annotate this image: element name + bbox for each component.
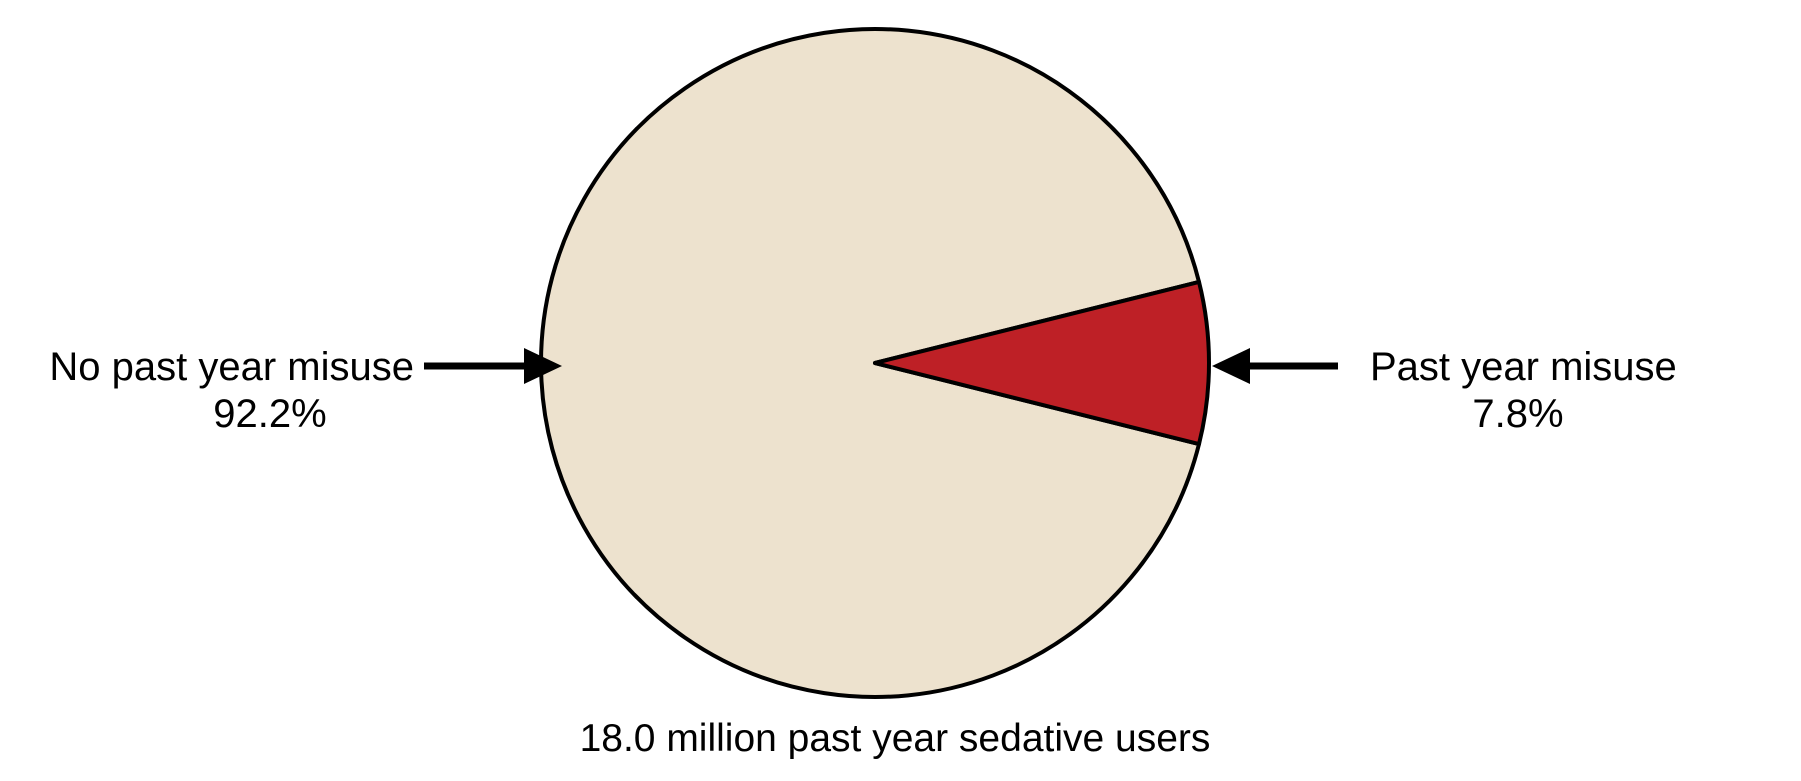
pie-chart-figure: No past year misuse 92.2% Past year misu… [0, 0, 1801, 781]
pie-chart-svg: No past year misuse 92.2% Past year misu… [0, 0, 1801, 781]
right-annotation-label: Past year misuse [1370, 345, 1677, 389]
chart-caption: 18.0 million past year sedative users [580, 717, 1211, 760]
left-annotation-label: No past year misuse [49, 345, 414, 389]
right-annotation-value: 7.8% [1472, 392, 1563, 436]
left-annotation-value: 92.2% [213, 392, 326, 436]
